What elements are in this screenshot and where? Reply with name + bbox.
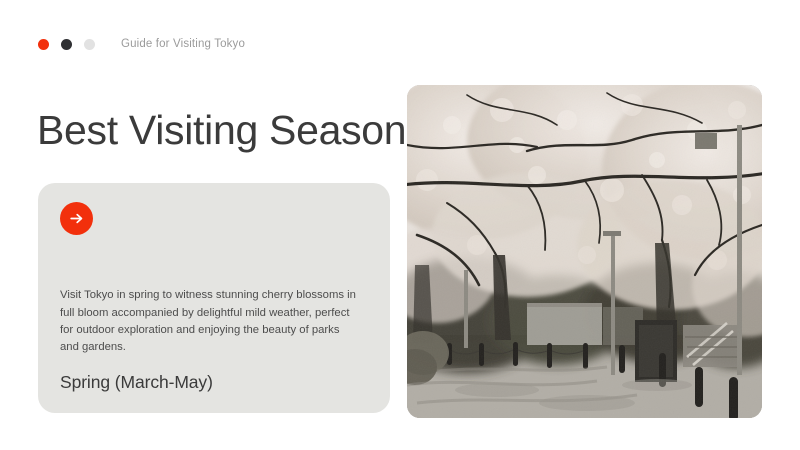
season-card: Visit Tokyo in spring to witness stunnin… — [38, 183, 390, 413]
topbar: Guide for Visiting Tokyo — [38, 36, 245, 52]
card-heading: Spring (March-May) — [60, 372, 368, 393]
window-dots — [38, 39, 95, 50]
cherry-blossom-photo — [407, 85, 762, 418]
dot-red-icon[interactable] — [38, 39, 49, 50]
page-title: Best Visiting Seasons — [37, 109, 427, 152]
arrow-right-button[interactable] — [60, 202, 93, 235]
dot-gray-icon[interactable] — [84, 39, 95, 50]
arrow-right-icon — [68, 210, 85, 227]
photo-illustration — [407, 85, 762, 418]
dot-dark-icon[interactable] — [61, 39, 72, 50]
card-spacer — [60, 235, 368, 287]
topbar-title: Guide for Visiting Tokyo — [121, 38, 245, 50]
card-description: Visit Tokyo in spring to witness stunnin… — [60, 287, 360, 356]
